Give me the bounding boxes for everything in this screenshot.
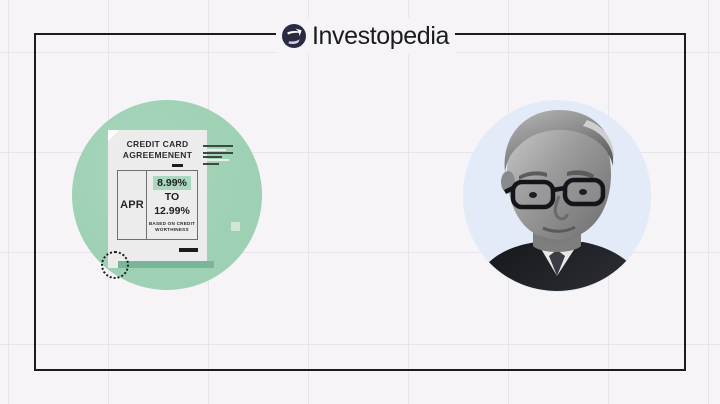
video-frame-canvas: Investopedia CREDIT CARD AGREEMENENT APR… [0, 0, 720, 404]
rate-high: 12.99% [154, 205, 190, 219]
document-title-underline [172, 164, 183, 167]
document-footer-rule [179, 248, 198, 252]
barcode-lines-icon [203, 145, 233, 165]
man-with-glasses-portrait-icon [463, 100, 651, 292]
apr-rate-table: APR 8.99% TO 12.99% BASED ON CREDIT WORT… [117, 170, 198, 240]
brand-name: Investopedia [312, 24, 449, 49]
credit-card-agreement-document: CREDIT CARD AGREEMENENT APR 8.99% TO 12.… [108, 130, 207, 268]
apr-label: APR [120, 199, 144, 211]
investopedia-logo: Investopedia [276, 18, 455, 54]
apr-table-value-cell: 8.99% TO 12.99% BASED ON CREDIT WORTHINE… [147, 171, 197, 239]
apr-table-label-cell: APR [118, 171, 147, 239]
progress-bar-decoration [118, 261, 214, 268]
investopedia-circle-swoosh-icon [282, 24, 306, 48]
rate-low-highlighted: 8.99% [153, 176, 191, 190]
rate-range-connector: TO [165, 191, 179, 204]
rate-disclaimer-note: BASED ON CREDIT WORTHINESS [147, 221, 197, 234]
document-title: CREDIT CARD AGREEMENENT [116, 139, 199, 161]
accent-square-decoration [231, 222, 240, 231]
dotted-circle-decoration [101, 251, 129, 279]
